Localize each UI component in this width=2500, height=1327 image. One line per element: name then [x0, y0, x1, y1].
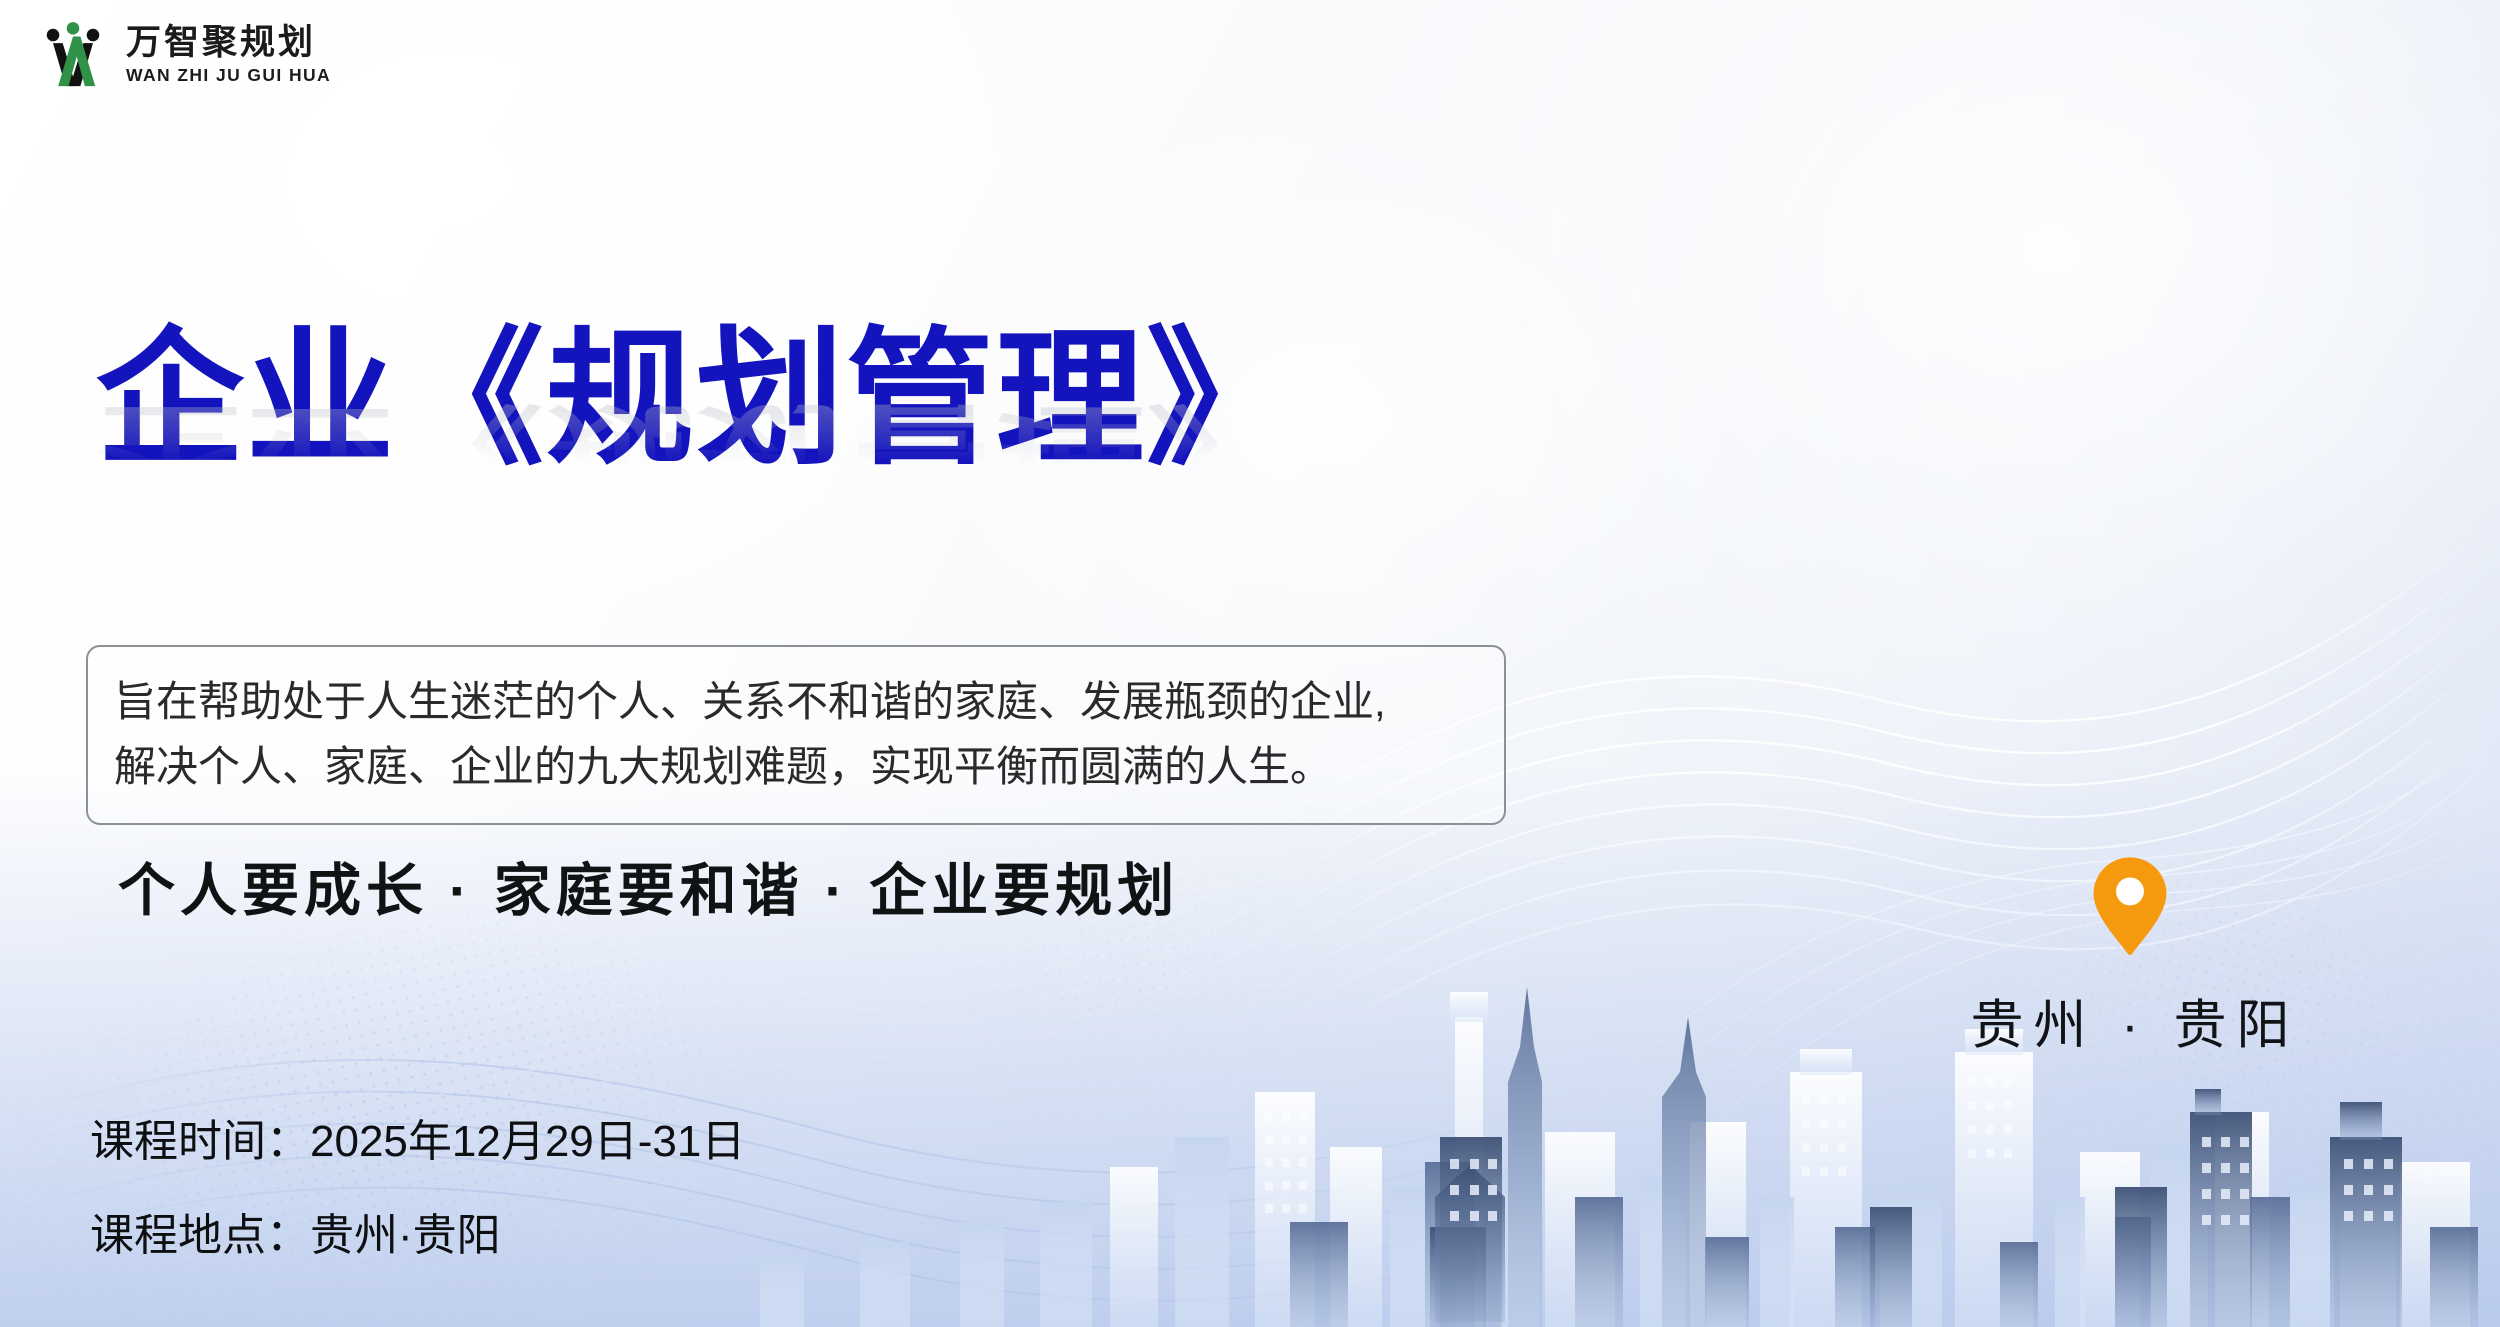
description-line-1: 旨在帮助处于人生迷茫的个人、关系不和谐的家庭、发展瓶颈的企业,	[114, 669, 1478, 734]
brand-logo[interactable]: 万智聚规划 WAN ZHI JU GUI HUA	[36, 18, 331, 92]
three-people-mark-icon	[36, 18, 110, 92]
slogan-text: 个人要成长 · 家庭要和谐 · 企业要规划	[118, 845, 1179, 927]
map-pin-icon	[2091, 855, 2169, 957]
course-place: 课程地点：贵州·贵阳	[90, 1214, 745, 1258]
course-info-block: 课程时间：2025年12月29日-31日 课程地点：贵州·贵阳	[90, 1120, 745, 1258]
description-line-2: 解决个人、家庭、企业的九大规划难题，实现平衡而圆满的人生。	[114, 734, 1478, 799]
page-title: 企业《规划管理》	[96, 320, 1656, 480]
hero-title-block: 企业《规划管理》 企业《规划管理》	[96, 320, 1656, 644]
location-block: 贵州 · 贵阳	[1960, 855, 2300, 1059]
location-label: 贵州 · 贵阳	[1960, 983, 2299, 1059]
description-box: 旨在帮助处于人生迷茫的个人、关系不和谐的家庭、发展瓶颈的企业, 解决个人、家庭、…	[86, 645, 1506, 825]
brand-logo-text: 万智聚规划 WAN ZHI JU GUI HUA	[126, 25, 331, 85]
brand-name-en: WAN ZHI JU GUI HUA	[126, 67, 331, 85]
brand-name-cn: 万智聚规划	[126, 25, 331, 60]
course-time: 课程时间：2025年12月29日-31日	[90, 1120, 745, 1164]
promo-banner: 万智聚规划 WAN ZHI JU GUI HUA 企业《规划管理》 企业《规划管…	[0, 0, 2500, 1327]
